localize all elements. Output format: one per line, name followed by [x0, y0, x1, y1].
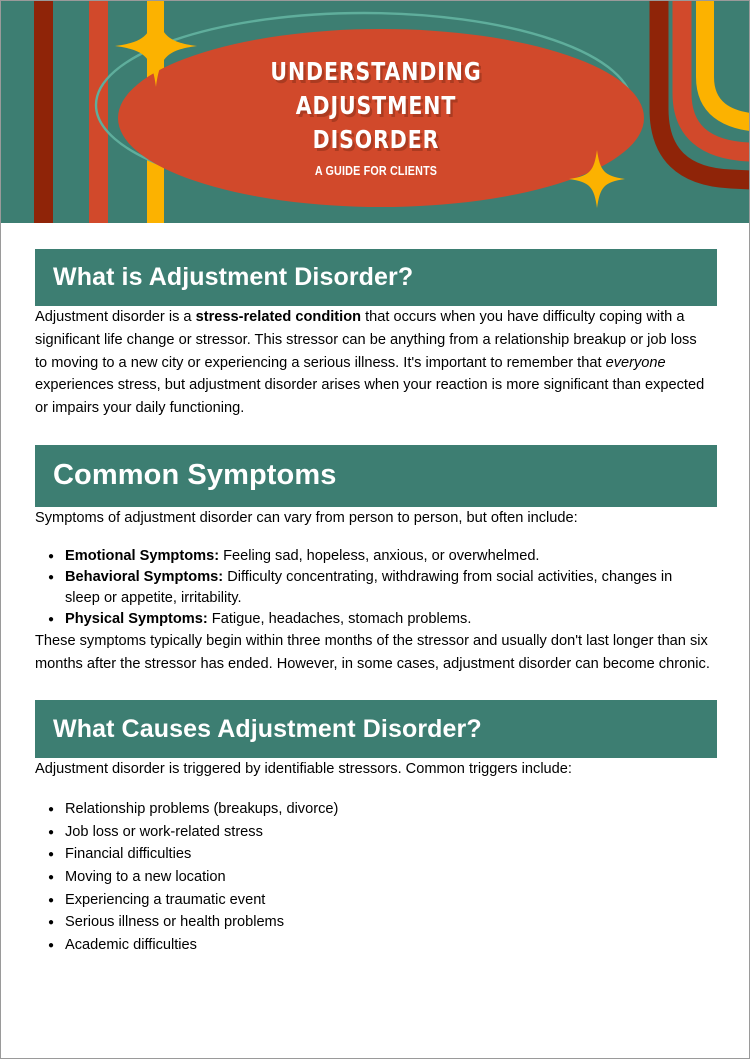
hero-banner: UNDERSTANDING ADJUSTMENT DISORDER A GUID…: [1, 1, 750, 223]
hero-title-line-1: UNDERSTANDING: [69, 55, 684, 89]
bullet-label: Behavioral Symptoms:: [65, 569, 223, 585]
list-item: Emotional Symptoms: Feeling sad, hopeles…: [1, 546, 750, 567]
list-item: Moving to a new location: [1, 867, 750, 888]
bullet-label: Physical Symptoms:: [65, 611, 208, 627]
hero-subtitle: A GUIDE FOR CLIENTS: [54, 164, 699, 178]
bullet-text: Academic difficulties: [65, 937, 197, 953]
bullet-text: Job loss or work-related stress: [65, 824, 263, 840]
bullet-text: Financial difficulties: [65, 846, 191, 862]
list-item: Behavioral Symptoms: Difficulty concentr…: [1, 567, 750, 609]
bold-run: stress-related condition: [196, 309, 361, 325]
italic-run: everyone: [606, 355, 666, 371]
list-item: Financial difficulties: [1, 844, 750, 865]
list-item: Academic difficulties: [1, 935, 750, 956]
bullet-text: Experiencing a traumatic event: [65, 892, 265, 908]
paragraph-definition: Adjustment disorder is a stress-related …: [1, 306, 750, 420]
hero-title-block: UNDERSTANDING ADJUSTMENT DISORDER A GUID…: [1, 55, 750, 178]
section-heading: What Causes Adjustment Disorder?: [53, 717, 482, 742]
symptoms-list: Emotional Symptoms: Feeling sad, hopeles…: [1, 546, 750, 630]
list-item: Relationship problems (breakups, divorce…: [1, 799, 750, 820]
section-banner-what-is: What is Adjustment Disorder?: [35, 249, 717, 306]
triggers-list: Relationship problems (breakups, divorce…: [1, 799, 750, 956]
section-banner-causes: What Causes Adjustment Disorder?: [35, 700, 717, 758]
document-page: UNDERSTANDING ADJUSTMENT DISORDER A GUID…: [0, 0, 750, 1059]
bullet-label: Emotional Symptoms:: [65, 548, 219, 564]
paragraph-symptoms-closing: These symptoms typically begin within th…: [1, 630, 750, 676]
bullet-text: Serious illness or health problems: [65, 914, 284, 930]
section-heading: What is Adjustment Disorder?: [53, 265, 413, 290]
section-heading: Common Symptoms: [53, 461, 336, 490]
list-item: Job loss or work-related stress: [1, 822, 750, 843]
list-item: Serious illness or health problems: [1, 912, 750, 933]
list-item: Experiencing a traumatic event: [1, 890, 750, 911]
paragraph-causes-lead: Adjustment disorder is triggered by iden…: [1, 758, 750, 781]
bullet-text: Feeling sad, hopeless, anxious, or overw…: [219, 548, 539, 564]
section-banner-symptoms: Common Symptoms: [35, 445, 717, 507]
bullet-text: Moving to a new location: [65, 869, 226, 885]
hero-title-line-3: DISORDER: [69, 123, 684, 157]
document-content: What is Adjustment Disorder? Adjustment …: [1, 223, 750, 957]
bullet-text: Fatigue, headaches, stomach problems.: [208, 611, 472, 627]
hero-title-line-2: ADJUSTMENT: [69, 89, 684, 123]
list-item: Physical Symptoms: Fatigue, headaches, s…: [1, 609, 750, 630]
paragraph-symptoms-lead: Symptoms of adjustment disorder can vary…: [1, 507, 750, 530]
bullet-text: Relationship problems (breakups, divorce…: [65, 801, 338, 817]
